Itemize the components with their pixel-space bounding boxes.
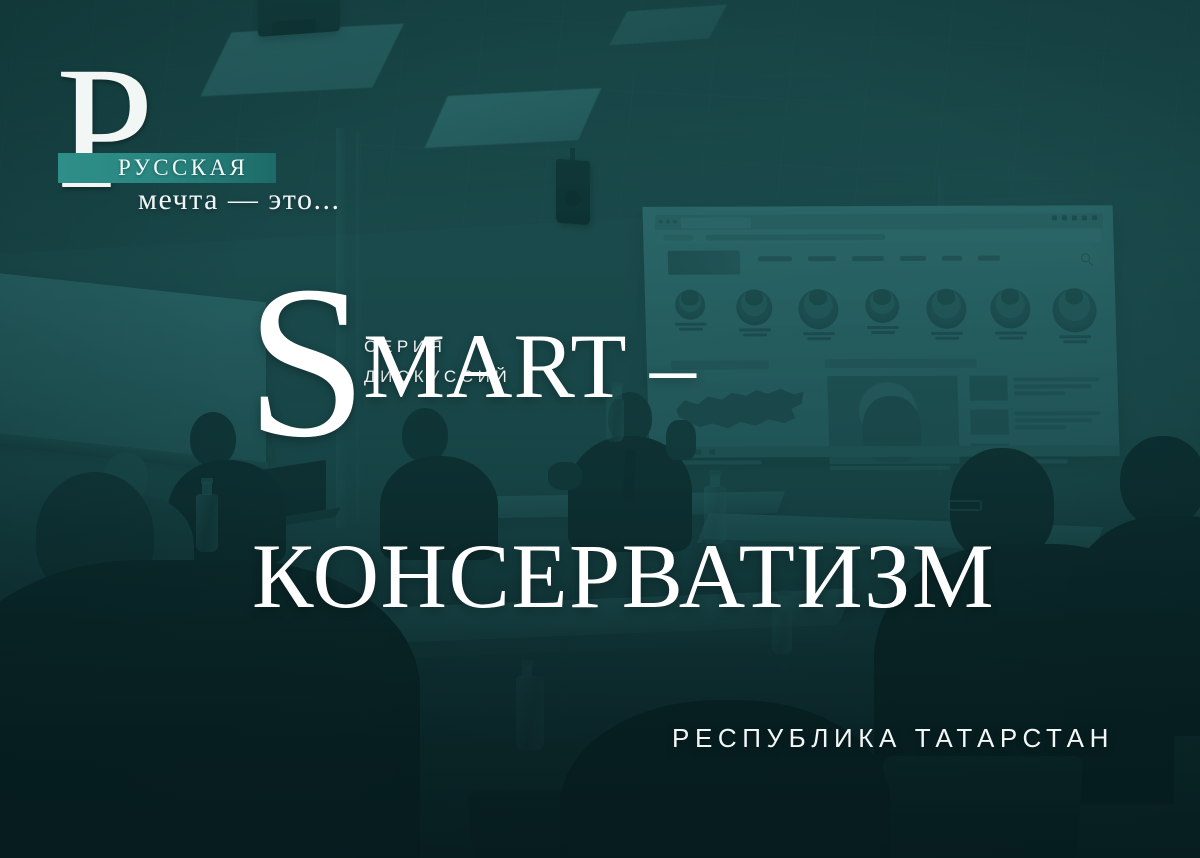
- title-line-1: SMART –: [246, 322, 1026, 414]
- poster-content: Р РУССКАЯ мечта — это... СЕРИЯ ДИСКУССИЙ…: [0, 0, 1200, 858]
- region-label: РЕСПУБЛИКА ТАТАРСТАН: [672, 723, 1114, 754]
- brand-logo[interactable]: Р РУССКАЯ мечта — это...: [56, 52, 366, 222]
- logo-subtitle: мечта — это...: [138, 183, 341, 217]
- logo-band-text: РУССКАЯ: [118, 155, 248, 181]
- title-line-2: КОНСЕРВАТИЗМ: [252, 530, 995, 622]
- title-line-1-rest: MART –: [363, 315, 697, 417]
- poster-root: Р РУССКАЯ мечта — это... СЕРИЯ ДИСКУССИЙ…: [0, 0, 1200, 858]
- title-block: SMART – КОНСЕРВАТИЗМ: [246, 322, 1026, 414]
- title-dropcap: S: [246, 242, 363, 483]
